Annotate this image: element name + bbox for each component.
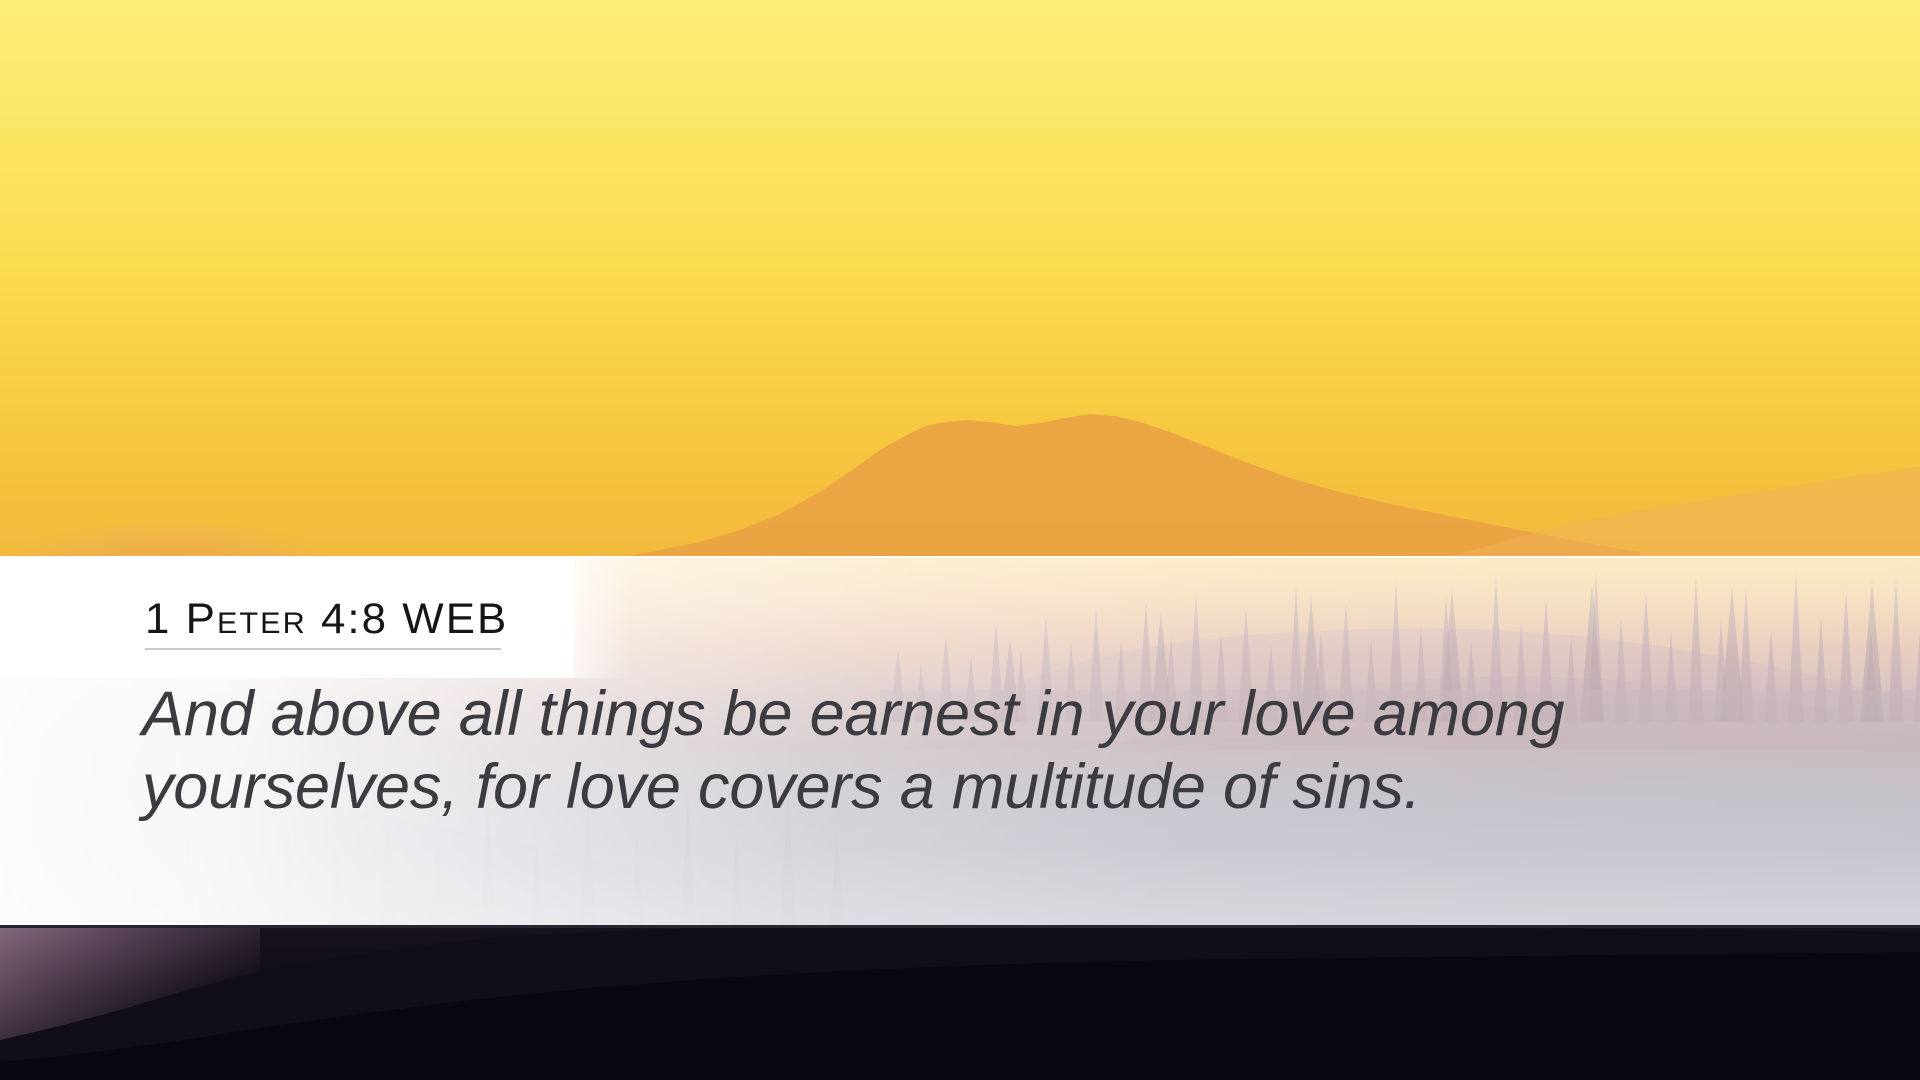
- verse-reference-text: 1 Peter 4:8 WEB: [145, 598, 508, 641]
- dark-foreground-ridge: [0, 928, 1920, 1080]
- verse-image-canvas: 1 Peter 4:8 WEB And above all things be …: [0, 0, 1920, 1080]
- verse-body-text: And above all things be earnest in your …: [142, 678, 1882, 824]
- far-left-ridge: [0, 424, 380, 574]
- verse-text-block: 1 Peter 4:8 WEB And above all things be …: [0, 556, 1920, 928]
- verse-reference: 1 Peter 4:8 WEB: [145, 598, 501, 650]
- foreground-ridge-silhouette: [0, 928, 1920, 1080]
- right-far-ridge: [1380, 430, 1920, 575]
